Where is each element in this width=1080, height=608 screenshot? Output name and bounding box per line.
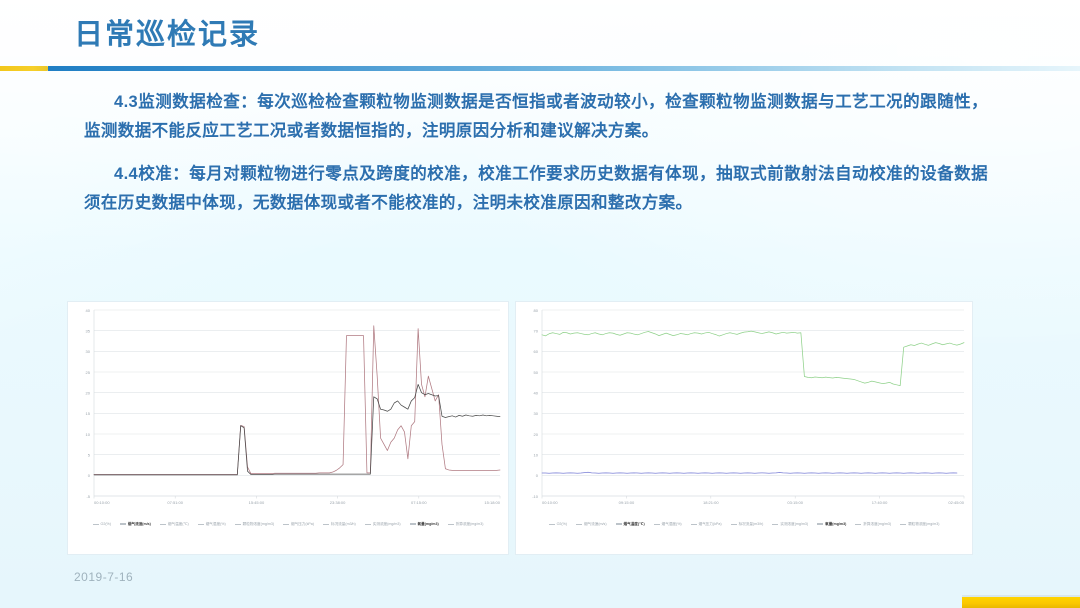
legend-item[interactable]: 烟气湿度(%) [198, 521, 226, 527]
legend-swatch-icon [691, 524, 697, 525]
legend-item[interactable]: 烟气湿度(%) [654, 521, 682, 527]
footer-date: 2019-7-16 [74, 570, 133, 584]
svg-text:80: 80 [534, 308, 539, 313]
legend-item-label: 颗粒物浓度(mg/m3) [908, 521, 939, 527]
legend-item-label: 氧量(mg/m3) [418, 521, 439, 527]
svg-text:-10: -10 [532, 494, 539, 499]
legend-item[interactable]: 烟气温度(℃) [616, 521, 645, 527]
svg-text:60: 60 [534, 349, 539, 354]
legend-item-label: 实测浓度(mg/m3) [373, 521, 401, 527]
legend-swatch-icon [120, 523, 126, 524]
svg-text:15:18:00: 15:18:00 [484, 500, 500, 505]
chart-card-right: 80706050403020100-1000:10:0009:15:0018:2… [516, 302, 972, 554]
paragraph-4-4: 4.4校准：每月对颗粒物进行零点及跨度的校准，校准工作要求历史数据有体现，抽取式… [0, 160, 1080, 218]
svg-text:15: 15 [86, 411, 91, 416]
slide-root: 日常巡检记录 4.3监测数据检查：每次巡检检查颗粒物监测数据是否恒指或者波动较小… [0, 0, 1080, 608]
legend-swatch-icon [731, 524, 737, 525]
page-title: 日常巡检记录 [74, 17, 260, 53]
svg-text:10: 10 [534, 452, 539, 457]
right-chart-legend: O2(%)烟气流速(m/s)烟气温度(℃)烟气湿度(%)烟气压力(kPa)标况流… [516, 516, 972, 534]
svg-text:40: 40 [86, 308, 91, 313]
svg-text:30: 30 [86, 349, 91, 354]
svg-text:09:15:00: 09:15:00 [619, 500, 635, 505]
charts-region: 4035302520151050-500:10:0007:51:0015:45:… [0, 302, 1080, 560]
slide-header: 日常巡检记录 [0, 0, 1080, 70]
legend-swatch-icon [160, 524, 166, 525]
svg-text:23:38:00: 23:38:00 [330, 500, 346, 505]
legend-item-label: O2(%) [557, 521, 567, 527]
legend-item[interactable]: 烟气压力(kPa) [691, 521, 722, 527]
legend-swatch-icon [772, 524, 778, 525]
legend-swatch-icon [283, 524, 289, 525]
paragraph-4-3: 4.3监测数据检查：每次巡检检查颗粒物监测数据是否恒指或者波动较小，检查颗粒物监… [0, 88, 1080, 146]
left-chart-legend: O2(%)烟气流速(m/s)烟气温度(℃)烟气湿度(%)颗粒物浓度(mg/m3)… [68, 516, 508, 534]
legend-item-label: 烟气流速(m/s) [584, 521, 607, 527]
svg-text:20: 20 [86, 390, 91, 395]
legend-item-label: 折算浓度(mg/m3) [863, 521, 891, 527]
svg-text:07:51:00: 07:51:00 [167, 500, 183, 505]
svg-text:17:40:00: 17:40:00 [872, 500, 888, 505]
legend-item[interactable]: 折算浓度(mg/m3) [448, 521, 484, 527]
legend-item[interactable]: 烟气流速(m/s) [120, 521, 151, 527]
legend-swatch-icon [576, 524, 582, 525]
legend-swatch-icon [654, 524, 660, 525]
svg-text:25: 25 [86, 370, 91, 375]
legend-item[interactable]: O2(%) [549, 521, 567, 527]
legend-item-label: 烟气压力(kPa) [291, 521, 314, 527]
legend-item[interactable]: 实测浓度(mg/m3) [772, 521, 808, 527]
legend-item-label: 烟气压力(kPa) [699, 521, 722, 527]
svg-text:5: 5 [88, 452, 91, 457]
svg-text:0: 0 [88, 473, 91, 478]
legend-item[interactable]: 折算浓度(mg/m3) [855, 521, 891, 527]
svg-text:10: 10 [86, 432, 91, 437]
legend-item-label: 烟气流速(m/s) [128, 521, 151, 527]
legend-item-label: 标况流量(m3/h) [331, 521, 356, 527]
svg-text:15:45:00: 15:45:00 [249, 500, 265, 505]
svg-text:50: 50 [534, 370, 539, 375]
legend-item[interactable]: 颗粒物浓度(mg/m3) [900, 521, 939, 527]
body-copy: 4.3监测数据检查：每次巡检检查颗粒物监测数据是否恒指或者波动较小，检查颗粒物监… [0, 88, 1080, 232]
legend-item-label: 烟气湿度(%) [206, 521, 226, 527]
svg-text:35: 35 [86, 328, 91, 333]
svg-text:18:21:00: 18:21:00 [703, 500, 719, 505]
legend-item-label: 颗粒物浓度(mg/m3) [243, 521, 274, 527]
legend-item-label: 实测浓度(mg/m3) [780, 521, 808, 527]
legend-item[interactable]: 烟气温度(℃) [160, 521, 189, 527]
svg-text:-5: -5 [86, 494, 90, 499]
divider-blue-segment [48, 66, 1080, 71]
left-chart-plot: 4035302520151050-500:10:0007:51:0015:45:… [68, 302, 508, 516]
legend-swatch-icon [855, 524, 861, 525]
legend-item[interactable]: 氧量(mg/m3) [410, 521, 439, 527]
legend-swatch-icon [198, 524, 204, 525]
footer-accent-bar [962, 597, 1080, 608]
legend-item[interactable]: 烟气压力(kPa) [283, 521, 314, 527]
legend-item-label: 氧量(mg/m3) [825, 521, 846, 527]
legend-item-label: 烟气温度(℃) [624, 521, 645, 527]
legend-item-label: 烟气温度(℃) [168, 521, 189, 527]
svg-text:30: 30 [534, 411, 539, 416]
legend-item[interactable]: 标况流量(m3/h) [731, 521, 764, 527]
legend-swatch-icon [323, 524, 329, 525]
legend-item[interactable]: O2(%) [93, 521, 111, 527]
legend-swatch-icon [365, 524, 371, 525]
header-divider [0, 66, 1080, 71]
legend-item[interactable]: 标况流量(m3/h) [323, 521, 356, 527]
legend-item[interactable]: 氧量(mg/m3) [817, 521, 846, 527]
svg-text:07:15:00: 07:15:00 [411, 500, 427, 505]
legend-item[interactable]: 实测浓度(mg/m3) [365, 521, 401, 527]
legend-swatch-icon [900, 524, 906, 525]
svg-text:40: 40 [534, 390, 539, 395]
svg-text:0: 0 [536, 473, 539, 478]
svg-text:00:10:00: 00:10:00 [542, 500, 558, 505]
svg-text:20: 20 [534, 432, 539, 437]
divider-yellow-segment [0, 66, 48, 71]
legend-swatch-icon [616, 523, 622, 524]
legend-swatch-icon [448, 524, 454, 525]
legend-swatch-icon [93, 524, 99, 525]
svg-text:70: 70 [534, 328, 539, 333]
legend-item-label: O2(%) [101, 521, 111, 527]
legend-item-label: 折算浓度(mg/m3) [456, 521, 484, 527]
legend-item-label: 烟气湿度(%) [662, 521, 682, 527]
right-chart-plot: 80706050403020100-1000:10:0009:15:0018:2… [516, 302, 972, 516]
legend-item-label: 标况流量(m3/h) [739, 521, 764, 527]
legend-swatch-icon [235, 524, 241, 525]
legend-item[interactable]: 颗粒物浓度(mg/m3) [235, 521, 274, 527]
legend-swatch-icon [817, 523, 823, 524]
chart-card-left: 4035302520151050-500:10:0007:51:0015:45:… [68, 302, 508, 554]
svg-text:00:10:00: 00:10:00 [94, 500, 110, 505]
legend-swatch-icon [549, 524, 555, 525]
legend-swatch-icon [410, 523, 416, 524]
svg-text:03:15:00: 03:15:00 [787, 500, 803, 505]
svg-text:02:45:00: 02:45:00 [948, 500, 964, 505]
legend-item[interactable]: 烟气流速(m/s) [576, 521, 607, 527]
